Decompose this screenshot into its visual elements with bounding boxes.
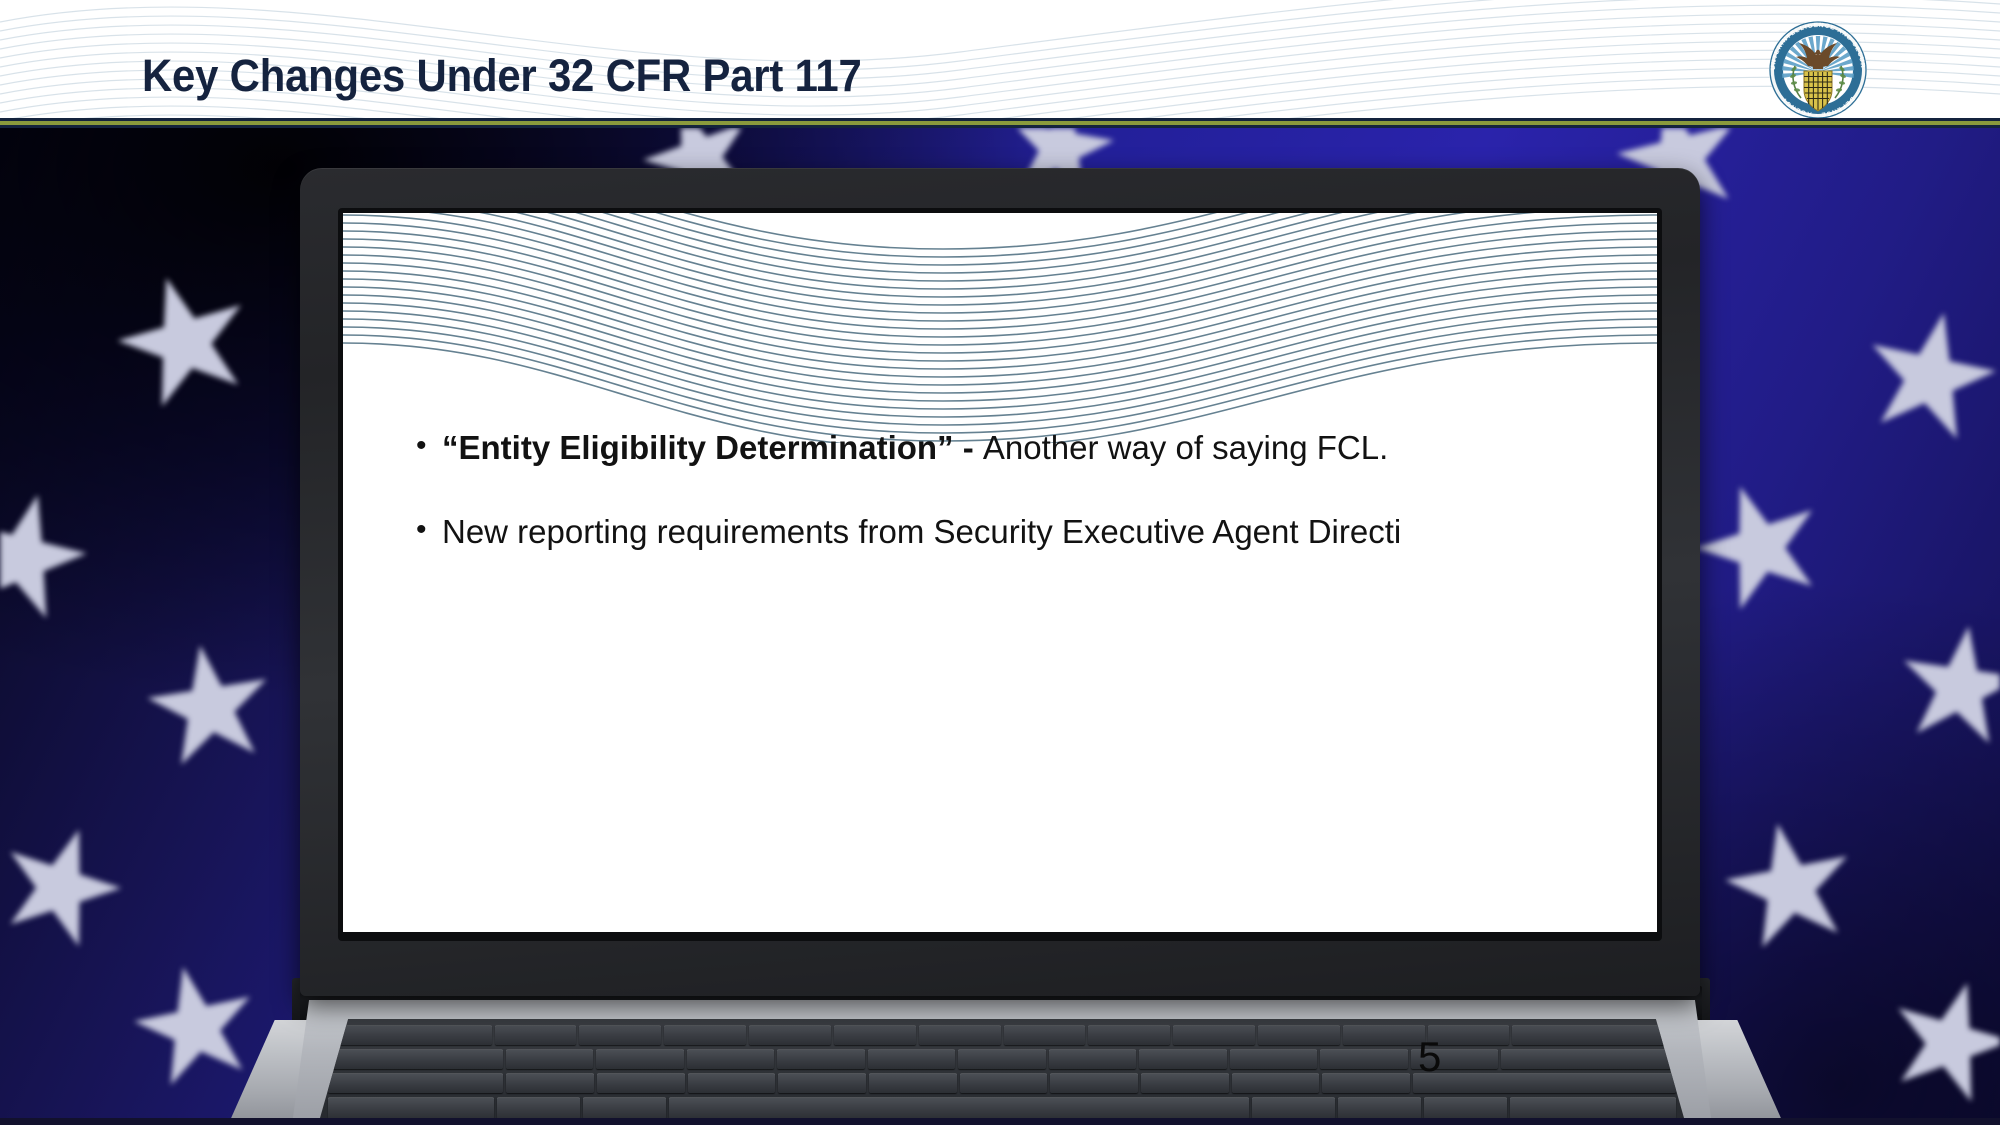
- key[interactable]: [1501, 1049, 1676, 1069]
- laptop-mockup: • “Entity Eligibility Determination” - A…: [0, 0, 2000, 1125]
- laptop-keyboard[interactable]: [318, 1019, 1686, 1125]
- key[interactable]: [495, 1025, 577, 1045]
- key[interactable]: [1413, 1073, 1676, 1093]
- key[interactable]: [1173, 1025, 1255, 1045]
- key[interactable]: [596, 1049, 683, 1069]
- key[interactable]: [328, 1025, 492, 1045]
- key[interactable]: [1424, 1097, 1507, 1119]
- bullet-text-bold: “Entity Eligibility Determination” -: [442, 429, 983, 466]
- key[interactable]: [328, 1073, 503, 1093]
- key[interactable]: [583, 1097, 666, 1119]
- key[interactable]: [1322, 1073, 1410, 1093]
- bullet-text-normal: Another way of saying FCL.: [983, 429, 1388, 466]
- key[interactable]: [919, 1025, 1001, 1045]
- bullet-text-normal: New reporting requirements from Security…: [442, 513, 1401, 550]
- key[interactable]: [688, 1073, 776, 1093]
- bullet-text: New reporting requirements from Security…: [442, 512, 1596, 552]
- key[interactable]: [597, 1073, 685, 1093]
- spacebar-key[interactable]: [669, 1097, 1250, 1119]
- slide-number: 5: [1418, 1033, 1441, 1081]
- keyboard-row[interactable]: [318, 1049, 1686, 1069]
- slide-wave-decoration: [343, 213, 1657, 443]
- key[interactable]: [328, 1049, 503, 1069]
- key[interactable]: [1050, 1073, 1138, 1093]
- key[interactable]: [506, 1073, 594, 1093]
- key[interactable]: [1338, 1097, 1421, 1119]
- header-divider-navy-bottom: [0, 125, 2000, 128]
- key[interactable]: [579, 1025, 661, 1045]
- list-item: • New reporting requirements from Securi…: [416, 512, 1596, 552]
- key[interactable]: [664, 1025, 746, 1045]
- key[interactable]: [1049, 1049, 1136, 1069]
- key[interactable]: [1141, 1073, 1229, 1093]
- keyboard-row[interactable]: [318, 1073, 1686, 1093]
- key[interactable]: [960, 1073, 1048, 1093]
- dcsa-agency-seal-icon: COUNTERINTELLIGENCE AND SECURITY DEFENSE…: [1757, 14, 1879, 126]
- key[interactable]: [834, 1025, 916, 1045]
- key[interactable]: [1512, 1025, 1676, 1045]
- keyboard-row[interactable]: [318, 1025, 1686, 1045]
- key[interactable]: [1088, 1025, 1170, 1045]
- bullet-marker-icon: •: [416, 428, 442, 465]
- key[interactable]: [778, 1073, 866, 1093]
- key[interactable]: [1252, 1097, 1335, 1119]
- key[interactable]: [777, 1049, 864, 1069]
- key[interactable]: [749, 1025, 831, 1045]
- key[interactable]: [687, 1049, 774, 1069]
- key[interactable]: [1004, 1025, 1086, 1045]
- bullet-text: “Entity Eligibility Determination” - Ano…: [442, 428, 1596, 468]
- key[interactable]: [868, 1049, 955, 1069]
- bottom-edge-strip: [0, 1118, 2000, 1125]
- key[interactable]: [497, 1097, 580, 1119]
- slide-header-band: Key Changes Under 32 CFR Part 117 COUNTE…: [0, 0, 2000, 128]
- key[interactable]: [1139, 1049, 1226, 1069]
- key[interactable]: [1258, 1025, 1340, 1045]
- presentation-slide: • “Entity Eligibility Determination” - A…: [343, 213, 1657, 932]
- key[interactable]: [1232, 1073, 1320, 1093]
- key[interactable]: [958, 1049, 1045, 1069]
- key[interactable]: [1230, 1049, 1317, 1069]
- page-title: Key Changes Under 32 CFR Part 117: [142, 50, 862, 102]
- key[interactable]: [1343, 1025, 1425, 1045]
- key[interactable]: [1320, 1049, 1407, 1069]
- key[interactable]: [506, 1049, 593, 1069]
- bullet-marker-icon: •: [416, 512, 442, 549]
- slide-bullet-list: • “Entity Eligibility Determination” - A…: [416, 428, 1596, 553]
- key[interactable]: [869, 1073, 957, 1093]
- list-item: • “Entity Eligibility Determination” - A…: [416, 428, 1596, 468]
- keyboard-row[interactable]: [318, 1097, 1686, 1119]
- key[interactable]: [1510, 1097, 1676, 1119]
- key[interactable]: [328, 1097, 494, 1119]
- slide-canvas: • “Entity Eligibility Determination” - A…: [0, 0, 2000, 1125]
